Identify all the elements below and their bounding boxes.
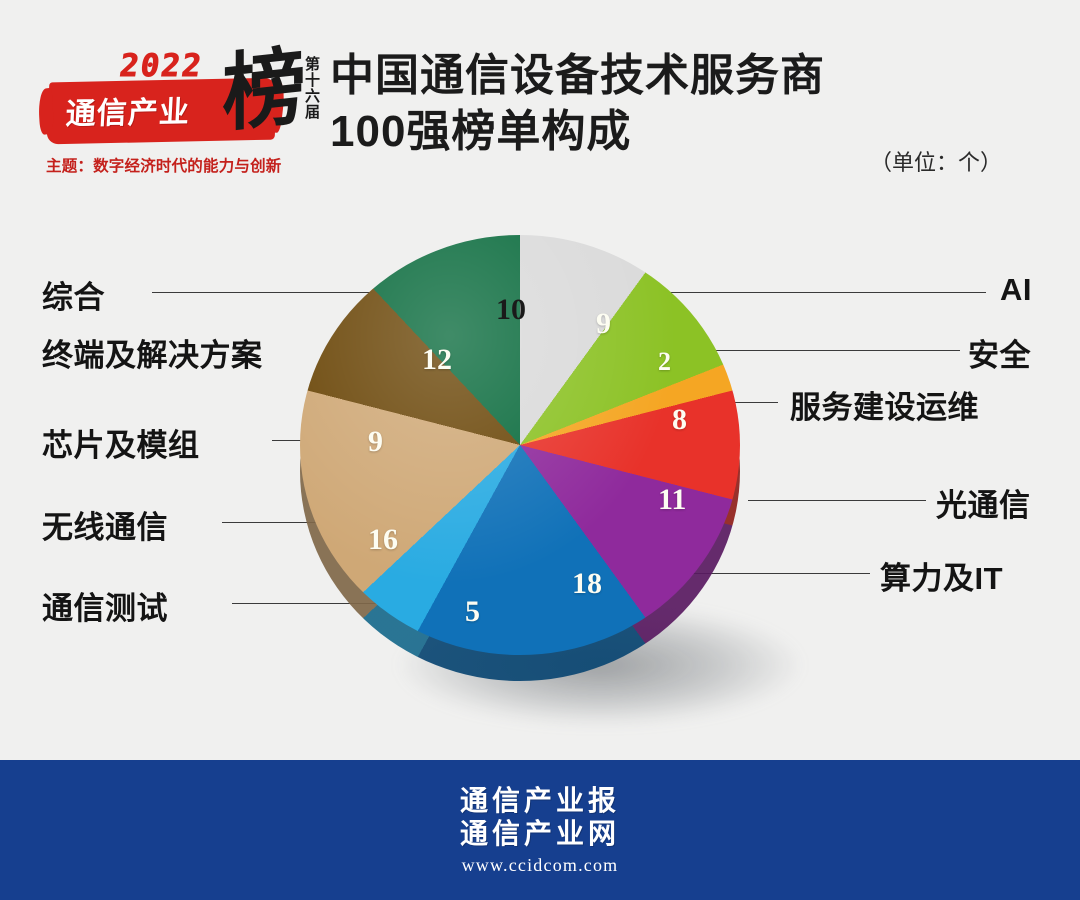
award-logo: 2022 通信产业 榜 第十六届 主题：数字经济时代的能力与创新: [38, 42, 328, 182]
logo-theme-subtitle: 主题：数字经济时代的能力与创新: [46, 154, 282, 176]
category-label-compute-it: 算力及IT: [880, 553, 1003, 598]
category-label-terminal: 终端及解决方案: [42, 330, 263, 375]
logo-brand-text: 通信产业: [65, 87, 191, 133]
poster-canvas: 2022 通信产业 榜 第十六届 主题：数字经济时代的能力与创新 中国通信设备技…: [0, 0, 1080, 900]
title-line-1: 中国通信设备技术服务商: [330, 48, 980, 104]
slice-value-chip: 9: [368, 425, 383, 459]
category-label-wireless: 无线通信: [42, 502, 168, 547]
slice-value-wireless: 16: [368, 523, 398, 557]
category-label-test: 通信测试: [42, 583, 168, 628]
logo-edition-ordinal: 第十六届: [294, 56, 320, 120]
slice-value-comprehensive: 10: [496, 293, 526, 327]
unit-note: （单位：个）: [870, 145, 1002, 177]
slice-value-optical: 11: [658, 483, 686, 517]
pie-graphic: 10 9 2 8 11 18 5 16 9 12: [300, 235, 780, 715]
slice-value-security: 2: [658, 347, 671, 377]
category-label-security: 安全: [968, 330, 1031, 375]
footer-url[interactable]: www.ccidcom.com: [462, 855, 619, 876]
logo-year: 2022: [117, 48, 205, 84]
pie-chart: 10 9 2 8 11 18 5 16 9 12 综合 终端及解决方案 芯片及模…: [0, 210, 1080, 760]
poster-header: 2022 通信产业 榜 第十六届 主题：数字经济时代的能力与创新 中国通信设备技…: [0, 0, 1080, 210]
slice-value-test: 5: [465, 595, 480, 629]
category-label-ai: AI: [1000, 272, 1032, 308]
slice-value-compute-it: 18: [572, 567, 602, 601]
category-label-chip: 芯片及模组: [42, 420, 200, 465]
slice-value-ai: 9: [596, 307, 611, 341]
page-title: 中国通信设备技术服务商 100强榜单构成: [330, 48, 980, 161]
footer-publication-name: 通信产业报: [460, 784, 620, 817]
footer-website-name: 通信产业网: [460, 817, 620, 850]
category-label-comprehensive: 综合: [42, 272, 105, 317]
category-label-service-ops: 服务建设运维: [790, 382, 979, 427]
category-label-optical: 光通信: [936, 480, 1031, 525]
poster-footer: 通信产业报 通信产业网 www.ccidcom.com: [0, 760, 1080, 900]
slice-value-terminal: 12: [422, 343, 452, 377]
slice-value-service-ops: 8: [672, 403, 687, 437]
